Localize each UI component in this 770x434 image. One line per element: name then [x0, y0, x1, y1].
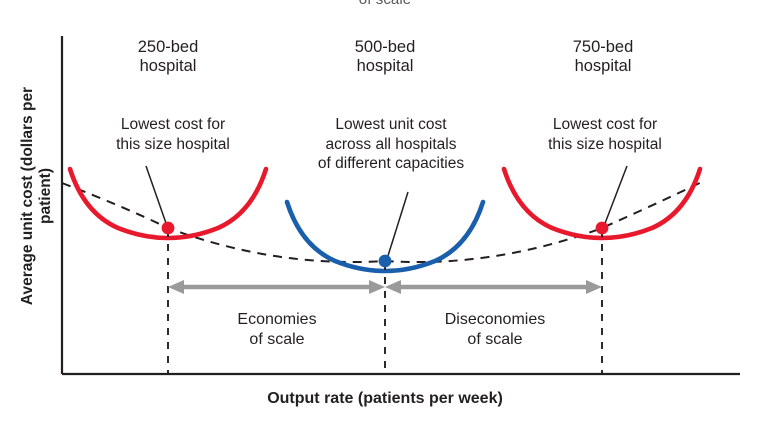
annotation-middle-line2: across all hospitals [293, 135, 489, 155]
header-750-bed: 750-bed hospital [518, 38, 688, 76]
leader-line-left [146, 166, 167, 226]
diseconomies-label-line1: Diseconomies [405, 310, 585, 330]
annotation-right-line1: Lowest cost for [515, 115, 695, 135]
header-500-bed-line1: 500-bed [300, 38, 470, 57]
annotation-right: Lowest cost for this size hospital [515, 115, 695, 154]
header-250-bed: 250-bed hospital [83, 38, 253, 76]
header-250-bed-line2: hospital [83, 57, 253, 76]
diseconomies-of-scale-label: Diseconomies of scale [405, 310, 585, 350]
annotation-middle: Lowest unit cost across all hospitals of… [293, 115, 489, 174]
long-run-average-cost-envelope [62, 180, 706, 262]
economies-of-scale-figure: of scale [0, 0, 770, 434]
header-750-bed-line2: hospital [518, 57, 688, 76]
economies-of-scale-label: Economies of scale [187, 310, 367, 350]
header-250-bed-line1: 250-bed [83, 38, 253, 57]
annotation-middle-line1: Lowest unit cost [293, 115, 489, 135]
leader-line-right [604, 166, 627, 226]
economies-of-scale-arrow [168, 280, 385, 294]
economies-label-line2: of scale [187, 330, 367, 350]
marker-750-bed-minimum [596, 222, 609, 235]
annotation-left-line1: Lowest cost for [83, 115, 263, 135]
header-500-bed: 500-bed hospital [300, 38, 470, 76]
header-500-bed-line2: hospital [300, 57, 470, 76]
marker-500-bed-minimum [379, 255, 392, 268]
annotation-right-line2: this size hospital [515, 135, 695, 155]
annotation-left-line2: this size hospital [83, 135, 263, 155]
marker-250-bed-minimum [162, 222, 175, 235]
leader-line-middle [387, 192, 408, 259]
annotation-left: Lowest cost for this size hospital [83, 115, 263, 154]
header-750-bed-line1: 750-bed [518, 38, 688, 57]
y-axis-label: Average unit cost (dollars per patient) [19, 81, 55, 311]
economies-label-line1: Economies [187, 310, 367, 330]
diseconomies-label-line2: of scale [405, 330, 585, 350]
x-axis-label: Output rate (patients per week) [0, 390, 770, 408]
diseconomies-of-scale-arrow [385, 280, 602, 294]
annotation-middle-line3: of different capacities [293, 154, 489, 174]
